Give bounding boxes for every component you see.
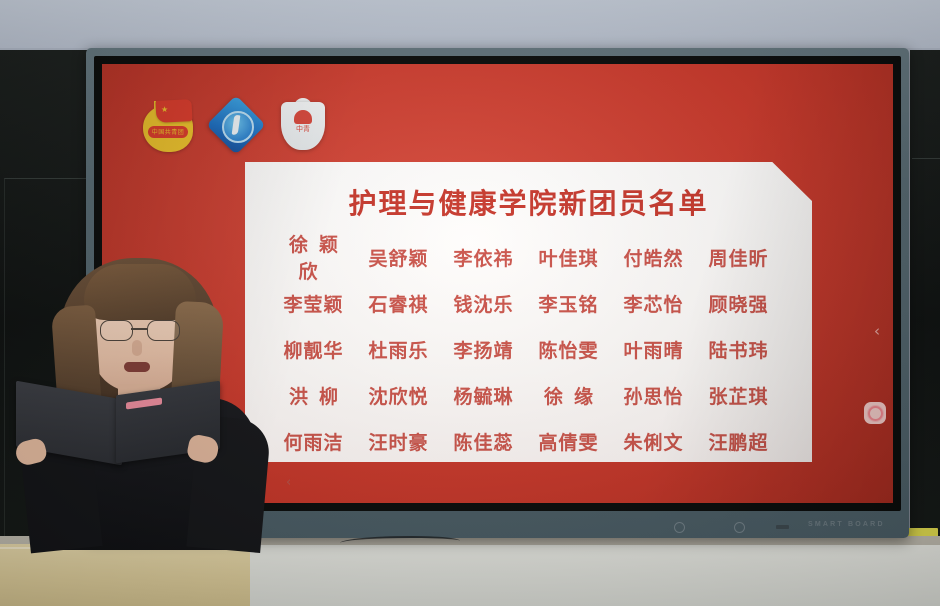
nose bbox=[132, 340, 142, 356]
folder bbox=[16, 386, 216, 462]
right-collapse-handle-icon[interactable]: ‹ bbox=[874, 324, 880, 339]
glasses-icon bbox=[100, 320, 180, 340]
ir-receiver-icon bbox=[776, 525, 789, 529]
mouth bbox=[124, 362, 150, 372]
panel-home-button[interactable] bbox=[734, 522, 745, 533]
power-cable bbox=[340, 536, 460, 548]
classroom-scene: ★ 中国共青团 中青 bbox=[0, 0, 940, 606]
blackboard-panel-right bbox=[910, 50, 940, 538]
wall-upper bbox=[0, 0, 940, 52]
panel-brand-text: SMART BOARD bbox=[808, 521, 885, 528]
white-counter bbox=[230, 545, 940, 606]
camera-app-icon[interactable] bbox=[864, 402, 886, 424]
panel-power-button[interactable] bbox=[674, 522, 685, 533]
presenter bbox=[14, 258, 266, 550]
wooden-podium bbox=[0, 544, 250, 606]
left-collapse-handle-icon[interactable]: ‹ bbox=[286, 476, 291, 489]
